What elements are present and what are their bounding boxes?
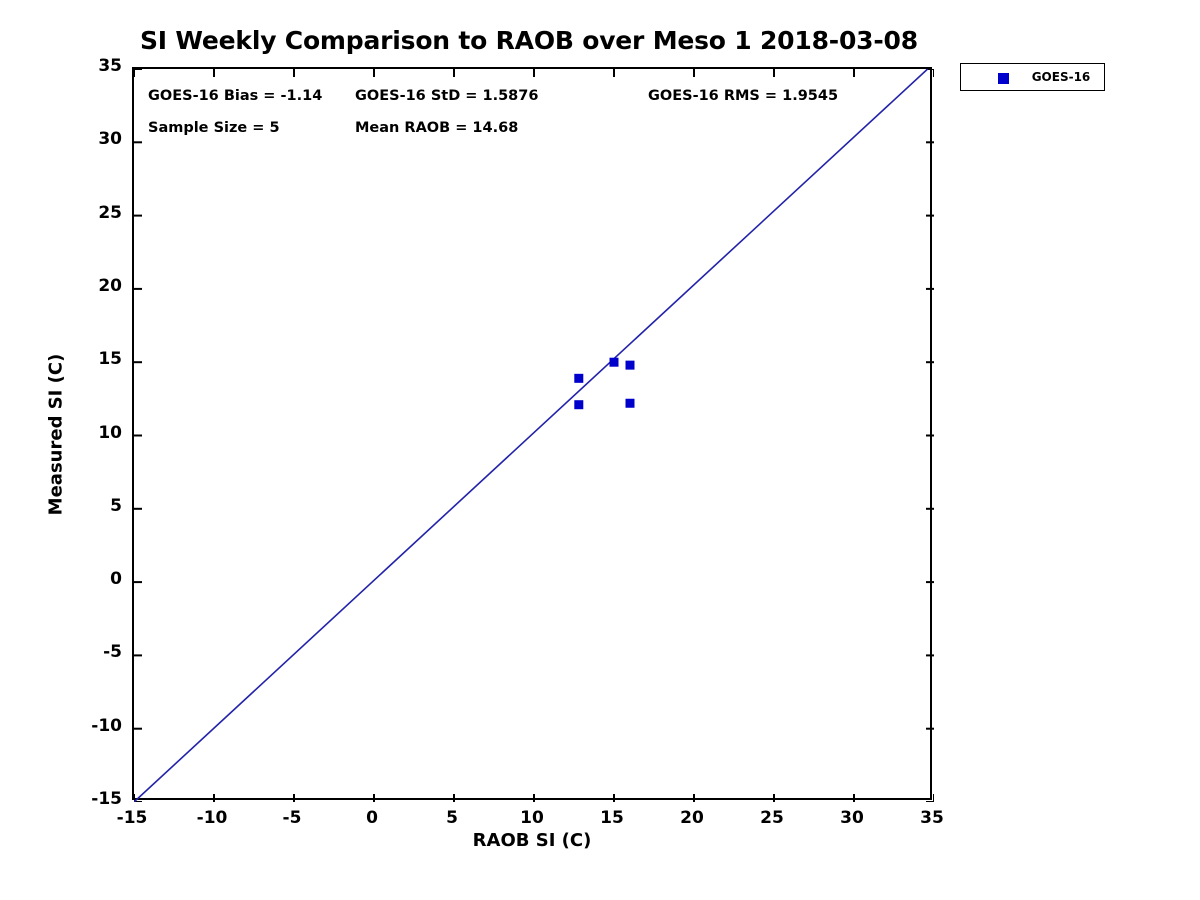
- x-tick-label: 20: [657, 808, 727, 828]
- legend: GOES-16: [960, 63, 1105, 91]
- data-point: [626, 361, 635, 370]
- data-point-group: [574, 358, 634, 410]
- x-tick-label: 35: [897, 808, 967, 828]
- x-tick-label: 25: [737, 808, 807, 828]
- stat-sample-size: Sample Size = 5: [148, 120, 280, 136]
- y-tick-label: 35: [62, 56, 122, 76]
- x-axis-title: RAOB SI (C): [332, 830, 732, 851]
- y-tick-label: 5: [62, 496, 122, 516]
- x-tick-label: 30: [817, 808, 887, 828]
- x-tick-label: 10: [497, 808, 567, 828]
- stat-standard-deviation: GOES-16 StD = 1.5876: [355, 88, 538, 104]
- one-to-one-line: [134, 69, 928, 802]
- scatter-chart-figure: SI Weekly Comparison to RAOB over Meso 1…: [0, 0, 1200, 900]
- y-tick-label: 15: [62, 349, 122, 369]
- data-point: [610, 358, 619, 367]
- plot-area: [132, 67, 932, 800]
- stat-mean-raob: Mean RAOB = 14.68: [355, 120, 518, 136]
- x-tick-label: -5: [257, 808, 327, 828]
- data-point: [574, 400, 583, 409]
- y-tick-label: 30: [62, 129, 122, 149]
- plot-canvas: [134, 69, 934, 802]
- stat-bias: GOES-16 Bias = -1.14: [148, 88, 322, 104]
- x-tick-label: 0: [337, 808, 407, 828]
- y-axis-title: Measured SI (C): [46, 335, 67, 535]
- x-tick-label: -15: [97, 808, 167, 828]
- y-tick-label: 10: [62, 423, 122, 443]
- x-tick-label: 5: [417, 808, 487, 828]
- legend-label-goes16: GOES-16: [1021, 70, 1101, 84]
- y-tick-label: -15: [62, 789, 122, 809]
- y-tick-label: -5: [62, 642, 122, 662]
- data-point: [626, 399, 635, 408]
- x-tick-label: -10: [177, 808, 247, 828]
- y-tick-label: 20: [62, 276, 122, 296]
- stat-rms: GOES-16 RMS = 1.9545: [648, 88, 838, 104]
- y-tick-label: -10: [62, 716, 122, 736]
- legend-marker-icon: [998, 73, 1009, 84]
- page-title: SI Weekly Comparison to RAOB over Meso 1…: [140, 26, 940, 55]
- x-tick-label: 15: [577, 808, 647, 828]
- data-point: [574, 374, 583, 383]
- y-tick-label: 0: [62, 569, 122, 589]
- y-tick-label: 25: [62, 203, 122, 223]
